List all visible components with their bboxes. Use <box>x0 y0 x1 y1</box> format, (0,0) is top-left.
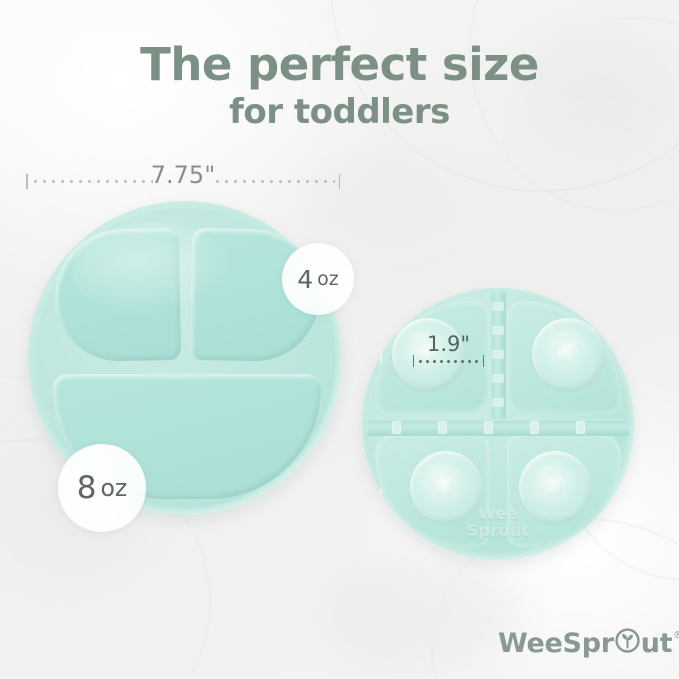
capacity-unit: oz <box>100 474 127 502</box>
marble-highlight <box>320 560 520 670</box>
ruler-dotted-line <box>417 360 480 363</box>
ruler-end-cap-left <box>26 174 28 189</box>
suction-cup-diameter-label: 1.9" <box>427 332 470 356</box>
compartment-top-left <box>54 228 181 362</box>
plate-diameter-ruler: 7.75" <box>26 170 340 192</box>
suction-cup-bottom-right <box>519 451 591 523</box>
suction-cup-valve <box>436 477 456 497</box>
embossed-brand-mark: Wee Sprout <box>467 506 530 540</box>
headline-primary: The perfect size <box>0 38 679 91</box>
capacity-badge-8oz: 8 oz <box>58 444 146 532</box>
sprout-icon <box>615 628 640 653</box>
suction-cup-top-right <box>532 318 604 390</box>
marble-highlight <box>300 150 460 240</box>
capacity-value: 8 <box>77 470 97 506</box>
vertical-channel <box>490 292 506 422</box>
capacity-value: 4 <box>297 265 313 294</box>
suction-cup-valve <box>545 477 565 497</box>
horizontal-channel <box>366 419 630 436</box>
brand-logo: WeeSpr ut ® <box>498 628 679 659</box>
ruler-end-cap-right <box>483 355 484 367</box>
plate-back-with-suction-cups: Wee Sprout <box>362 288 634 560</box>
ruler-dotted-line-left <box>31 180 153 183</box>
product-image-canvas: The perfect size for toddlers 7.75" <box>0 0 679 679</box>
headline-secondary: for toddlers <box>0 92 679 132</box>
ruler-end-cap-left <box>413 355 414 367</box>
capacity-unit: oz <box>317 268 339 290</box>
suction-cup-diameter-ruler: 1.9" <box>413 338 484 368</box>
suction-cup-valve <box>558 344 578 364</box>
registered-trademark-symbol: ® <box>673 630 679 641</box>
capacity-badge-4oz: 4 oz <box>282 243 354 315</box>
plate-diameter-label: 7.75" <box>151 161 215 189</box>
ruler-end-cap-right <box>339 174 341 189</box>
embossed-mark-line2: Sprout <box>467 523 530 540</box>
brand-name-part2: ut <box>641 628 673 659</box>
brand-name-part1: WeeSpr <box>498 628 614 659</box>
ruler-dotted-line-right <box>213 180 335 183</box>
